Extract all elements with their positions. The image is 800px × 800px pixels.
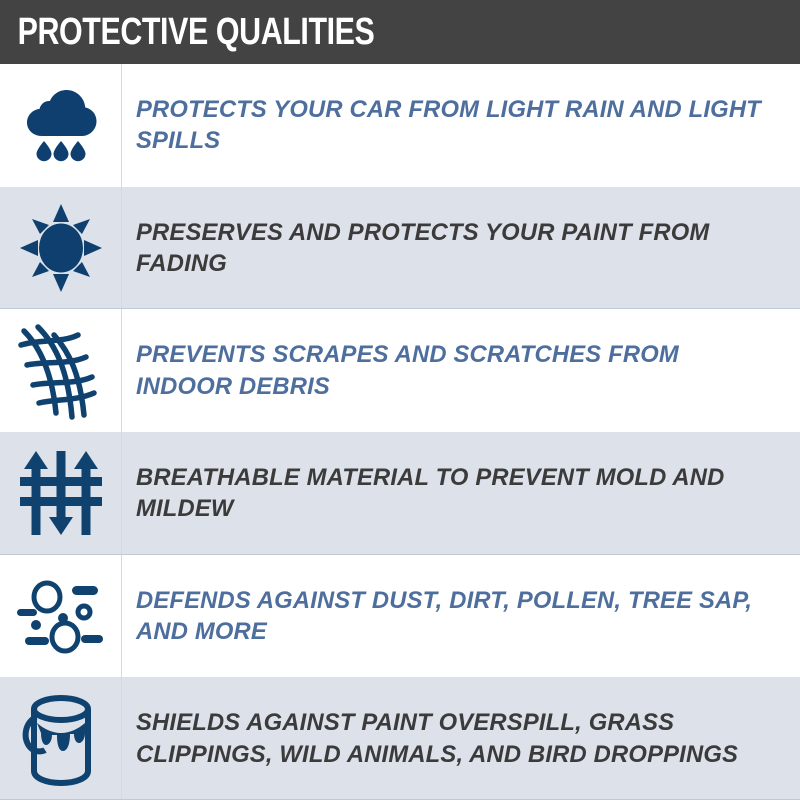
feature-row-dust: DEFENDS AGAINST DUST, DIRT, POLLEN, TREE…: [0, 555, 800, 678]
sun-icon: [18, 202, 104, 294]
icon-cell: [0, 187, 122, 310]
icon-cell: [0, 677, 122, 800]
rain-cloud-icon: [19, 83, 103, 167]
feature-row-paint: SHIELDS AGAINST PAINT OVERSPILL, GRASS C…: [0, 677, 800, 800]
feature-row-scratches: PREVENTS SCRAPES AND SCRATCHES FROM INDO…: [0, 309, 800, 432]
text-cell: BREATHABLE MATERIAL TO PREVENT MOLD AND …: [122, 432, 800, 555]
icon-cell: [0, 555, 122, 678]
feature-row-rain: PROTECTS YOUR CAR FROM LIGHT RAIN AND LI…: [0, 64, 800, 187]
feature-row-breathable: BREATHABLE MATERIAL TO PREVENT MOLD AND …: [0, 432, 800, 555]
feature-text: PROTECTS YOUR CAR FROM LIGHT RAIN AND LI…: [136, 94, 763, 157]
feature-text: SHIELDS AGAINST PAINT OVERSPILL, GRASS C…: [136, 707, 763, 770]
page-title: PROTECTIVE QUALITIES: [0, 13, 374, 51]
protective-qualities-infographic: PROTECTIVE QUALITIES PROTEC: [0, 0, 800, 800]
text-cell: SHIELDS AGAINST PAINT OVERSPILL, GRASS C…: [122, 677, 800, 800]
paint-can-icon: [18, 689, 104, 789]
feature-text: PREVENTS SCRAPES AND SCRATCHES FROM INDO…: [136, 339, 763, 402]
scratches-icon: [18, 321, 104, 421]
icon-cell: [0, 64, 122, 187]
dust-particles-icon: [15, 573, 107, 659]
feature-row-sun: PRESERVES AND PROTECTS YOUR PAINT FROM F…: [0, 187, 800, 310]
feature-text: BREATHABLE MATERIAL TO PREVENT MOLD AND …: [136, 462, 763, 525]
icon-cell: [0, 309, 122, 432]
text-cell: PROTECTS YOUR CAR FROM LIGHT RAIN AND LI…: [122, 64, 800, 187]
icon-cell: [0, 432, 122, 555]
text-cell: PREVENTS SCRAPES AND SCRATCHES FROM INDO…: [122, 309, 800, 432]
breathable-airflow-icon: [18, 447, 104, 539]
text-cell: DEFENDS AGAINST DUST, DIRT, POLLEN, TREE…: [122, 555, 800, 678]
feature-text: PRESERVES AND PROTECTS YOUR PAINT FROM F…: [136, 217, 763, 280]
feature-text: DEFENDS AGAINST DUST, DIRT, POLLEN, TREE…: [136, 585, 763, 648]
text-cell: PRESERVES AND PROTECTS YOUR PAINT FROM F…: [122, 187, 800, 310]
feature-list: PROTECTS YOUR CAR FROM LIGHT RAIN AND LI…: [0, 64, 800, 800]
header-bar: PROTECTIVE QUALITIES: [0, 0, 800, 64]
